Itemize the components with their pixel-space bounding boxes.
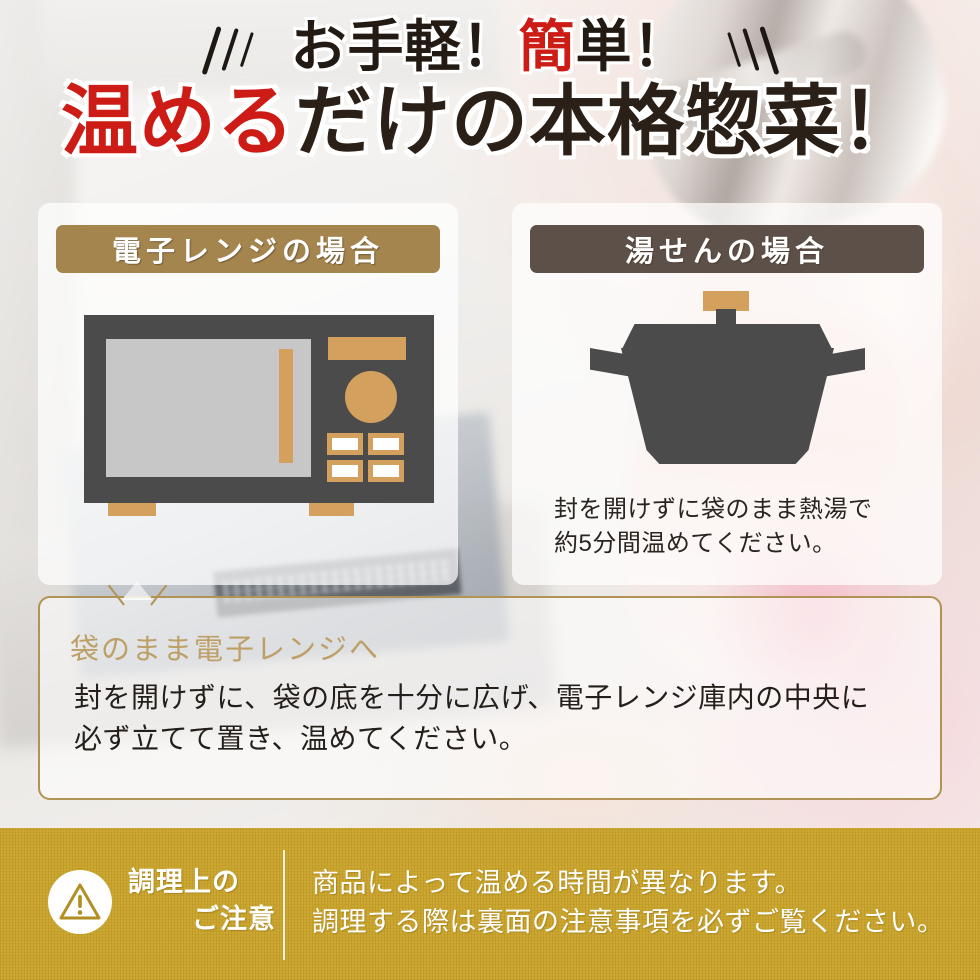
microwave-foot (108, 503, 156, 516)
pot-icon (590, 291, 865, 466)
promo-graphic: お手軽！簡単！ 温めるだけの本格惣菜！ 電子レンジの場合 湯せんの場合 (0, 0, 980, 980)
footer-caution-band: 調理上の ご注意 商品によって温める時間が異なります。 調理する際は裏面の注意事… (0, 828, 980, 980)
card-hot-water: 湯せんの場合 封を開けずに袋のまま熱湯で 約5分間温めてください。 (512, 203, 942, 585)
bottom-panel-heading: 袋のまま電子レンジへ (70, 626, 380, 668)
speech-bubble-notch-cover (124, 596, 151, 600)
card-hot-water-body: 封を開けずに袋のまま熱湯で 約5分間温めてください。 (554, 493, 924, 561)
footer-caution-text: 商品によって温める時間が異なります。 調理する際は裏面の注意事項を必ずご覧くださ… (312, 864, 962, 943)
microwave-button (368, 460, 404, 482)
microwave-display (328, 337, 406, 360)
bottom-panel-body-line-1: 封を開けずに、袋の底を十分に広げ、電子レンジ庫内の中央に (74, 678, 924, 719)
microwave-button (327, 460, 363, 482)
bottom-panel-body-line-2: 必ず立てて置き、温めてください。 (74, 719, 924, 760)
microwave-button (327, 433, 363, 455)
headline-line-2-red: 温める (61, 79, 295, 165)
headline: お手軽！簡単！ 温めるだけの本格惣菜！ (0, 18, 980, 163)
bottom-panel-body: 封を開けずに、袋の底を十分に広げ、電子レンジ庫内の中央に 必ず立てて置き、温めて… (74, 678, 924, 760)
pot-lid (622, 324, 832, 349)
footer-caution-label-line-1: 調理上の (128, 867, 240, 897)
microwave-dial (345, 371, 397, 423)
footer-caution-label: 調理上の ご注意 (128, 864, 276, 939)
pot-body (621, 348, 834, 464)
card-hot-water-body-line-1: 封を開けずに袋のまま熱湯で (554, 493, 924, 527)
footer-divider (283, 850, 285, 960)
footer-caution-text-line-2: 調理する際は裏面の注意事項を必ずご覧ください。 (312, 903, 962, 942)
pot-lid-knob (703, 291, 749, 311)
headline-line-1-part-1: お手軽！ (291, 17, 519, 79)
footer-caution-text-line-1: 商品によって温める時間が異なります。 (312, 864, 962, 903)
card-microwave-header: 電子レンジの場合 (56, 225, 440, 273)
bottom-instruction-panel: 袋のまま電子レンジへ 封を開けずに、袋の底を十分に広げ、電子レンジ庫内の中央に … (38, 596, 942, 800)
slash-left-decoration (213, 24, 273, 84)
slash-right-decoration (708, 24, 768, 84)
warning-triangle-icon (48, 870, 112, 934)
card-hot-water-header: 湯せんの場合 (530, 225, 924, 273)
headline-line-2: 温めるだけの本格惣菜！ (0, 82, 980, 163)
microwave-foot (309, 503, 354, 516)
headline-line-1-part-2: 単！ (576, 17, 690, 79)
pot-lid-stem (716, 309, 736, 325)
headline-line-2-dark: だけの本格惣菜！ (295, 79, 919, 165)
footer-caution-label-line-2: ご注意 (128, 901, 276, 938)
card-hot-water-body-line-2: 約5分間温めてください。 (554, 527, 924, 561)
card-microwave: 電子レンジの場合 (38, 203, 458, 585)
microwave-door-handle (279, 349, 293, 463)
headline-line-1: お手軽！簡単！ (291, 18, 690, 78)
headline-line-1-red: 簡 (519, 17, 576, 79)
microwave-icon (84, 315, 434, 513)
microwave-button (368, 433, 404, 455)
